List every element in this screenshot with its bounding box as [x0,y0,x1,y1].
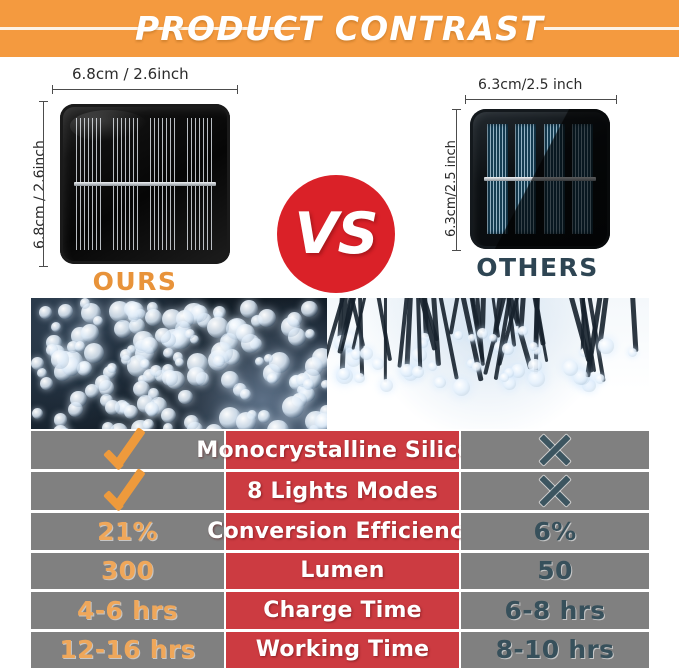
led-bulb [145,402,159,416]
led-bulb [162,370,178,386]
ours-width-dimension-rail [52,89,238,90]
feature-label: Working Time [256,637,429,662]
table-row: 21%Conversion Efficiency6% [31,513,649,550]
ours-value-cell: 300 [31,553,224,590]
theirs-value-cell [461,431,649,469]
ours-value: 4-6 hrs [77,596,178,625]
feature-name-cell: Monocrystalline Silicon [226,431,459,469]
feature-label: Charge Time [263,598,421,623]
led-bulb [176,310,194,328]
led-bulb [563,360,578,375]
ours-lights-photo [31,298,327,429]
ours-height-dimension-label: 6.8cm / 2.6inch [32,140,48,249]
led-bulb [31,357,44,370]
theirs-value-cell: 50 [461,553,649,590]
led-bulb [267,373,278,384]
led-bulb [145,309,162,326]
ours-solar-panel [60,104,230,264]
led-bulb [454,331,463,340]
led-bulb [528,370,545,387]
ours-height-dimension-rail [43,101,44,267]
led-bulb [360,347,373,360]
led-bulb [372,358,384,370]
feature-name-cell: Conversion Efficiency [226,513,459,550]
led-bulb [472,362,482,372]
feature-name-cell: Lumen [226,553,459,590]
others-panel-unit: 6.3cm/2.5 inch 6.3cm/2.5 inch OTHERS [430,77,645,295]
led-bulb [258,309,276,327]
photo-band [31,298,649,429]
led-bulb [58,304,73,319]
led-bulb [354,373,364,383]
others-solar-panel [470,109,610,249]
led-bulb [120,349,132,361]
ours-value-cell: 4-6 hrs [31,592,224,629]
led-bulb [595,374,605,384]
ours-value: 12-16 hrs [59,635,195,664]
ours-label: OURS [10,267,260,296]
theirs-value-cell [461,472,649,510]
ours-value: 300 [101,556,154,585]
led-bulb [70,391,87,408]
product-contrast-infographic: PRODUCT CONTRAST 6.8cm / 2.6inch 6.8cm /… [0,0,679,668]
others-panel-busbar [484,177,596,181]
table-row: 300Lumen50 [31,553,649,590]
theirs-value-cell: 6% [461,513,649,550]
ours-value-cell: 21% [31,513,224,550]
led-bulb [81,324,99,342]
led-bulb [187,367,206,386]
theirs-value: 8-10 hrs [496,635,615,664]
vs-label: VS [294,201,377,267]
led-bulb [380,379,393,392]
led-bulb [102,422,114,429]
check-icon [100,472,156,510]
feature-name-cell: 8 Lights Modes [226,472,459,510]
led-bulb [143,419,154,429]
table-row: 12-16 hrsWorking Time8-10 hrs [31,632,649,668]
led-bulb [207,317,228,338]
ours-value-cell [31,431,224,469]
theirs-value: 6-8 hrs [505,596,606,625]
ours-value-cell [31,472,224,510]
led-bulb [133,381,150,398]
ours-width-dimension-label: 6.8cm / 2.6inch [72,65,189,83]
led-bulb [184,415,199,429]
ours-panel-unit: 6.8cm / 2.6inch 6.8cm / 2.6inch OURS [10,59,260,295]
vs-badge: VS [277,175,395,293]
led-bulb [628,348,637,357]
theirs-value-cell: 6-8 hrs [461,592,649,629]
led-bulb [598,338,614,354]
feature-label: Monocrystalline Silicon [196,438,488,463]
led-bulb [140,359,150,369]
table-row: Monocrystalline Silicon [31,431,649,469]
cross-icon [537,432,573,468]
feature-label: Conversion Efficiency [207,519,478,544]
others-width-dimension-rail [465,99,617,100]
theirs-value-cell: 8-10 hrs [461,632,649,668]
led-bulb [236,412,257,429]
led-bulb [40,377,53,390]
header-banner: PRODUCT CONTRAST [0,0,679,57]
panel-comparison-section: 6.8cm / 2.6inch 6.8cm / 2.6inch OURS VS [0,57,679,295]
led-bulb [468,334,476,342]
feature-name-cell: Working Time [226,632,459,668]
led-bulb [351,349,361,359]
table-row: 8 Lights Modes [31,472,649,510]
others-label: OTHERS [430,253,645,282]
ours-panel-busbar [74,182,216,186]
spec-comparison-table: Monocrystalline Silicon8 Lights Modes21%… [31,431,649,668]
ours-value: 21% [97,517,158,546]
led-bulb [163,348,173,358]
led-bulb [107,363,117,373]
light-wire [384,298,387,383]
cross-icon [537,473,573,509]
led-bulb [155,328,171,344]
others-lights-photo [327,298,649,429]
led-bulb [84,343,104,363]
led-bulb [163,423,174,429]
led-bulb [305,357,324,376]
others-height-dimension-rail [456,109,457,251]
led-bulb [315,413,327,430]
led-bulb [301,301,317,317]
feature-name-cell: Charge Time [226,592,459,629]
light-wire [480,298,486,332]
led-bulb [240,300,258,318]
theirs-value: 50 [537,556,572,585]
others-width-dimension-label: 6.3cm/2.5 inch [478,77,582,93]
feature-label: Lumen [300,558,384,583]
check-icon [100,431,156,469]
led-bulb [518,326,528,336]
theirs-value: 6% [533,517,576,546]
led-bulb [502,343,514,355]
table-row: 4-6 hrsCharge Time6-8 hrs [31,592,649,629]
ours-value-cell: 12-16 hrs [31,632,224,668]
page-title: PRODUCT CONTRAST [0,0,679,57]
led-bulb [178,390,192,404]
led-bulb [528,359,542,373]
feature-label: 8 Lights Modes [247,479,438,504]
